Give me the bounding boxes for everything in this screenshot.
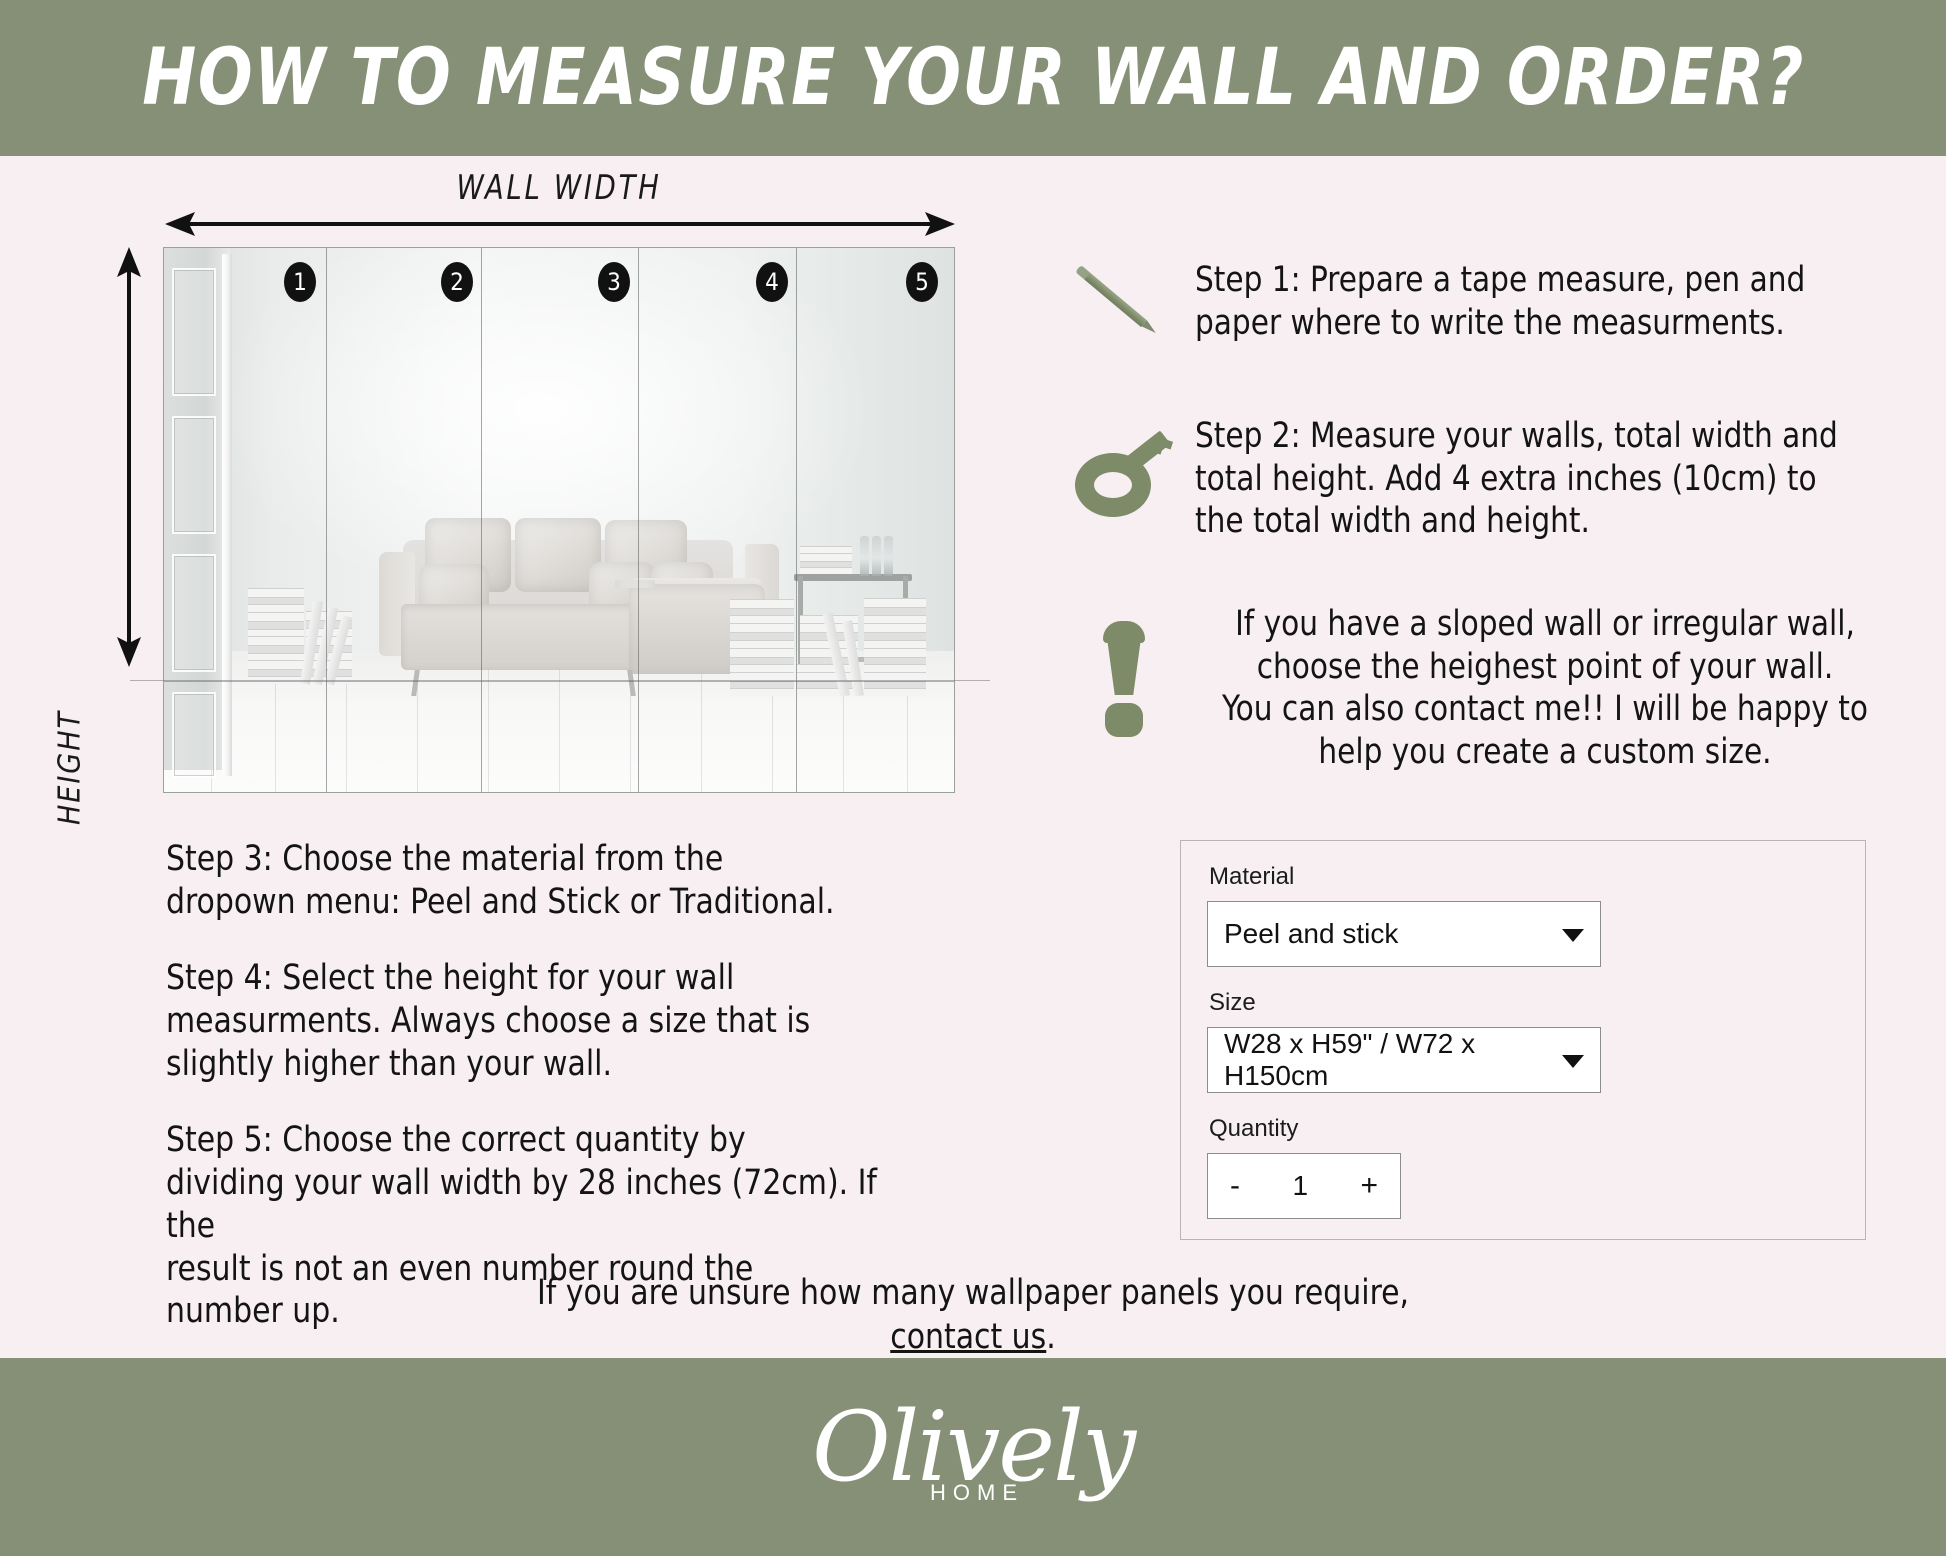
step-1-row: Step 1: Prepare a tape measure, pen and …	[1075, 255, 1925, 365]
step-2-text: Step 2: Measure your walls, total width …	[1195, 411, 1838, 543]
infographic-page: HOW TO MEASURE YOUR WALL AND ORDER? WALL…	[0, 0, 1946, 1556]
chevron-down-icon	[1562, 929, 1584, 942]
page-header: HOW TO MEASURE YOUR WALL AND ORDER?	[0, 0, 1946, 156]
panel-badge-5: 5	[906, 262, 938, 302]
wall-width-label: WALL WIDTH	[203, 168, 916, 208]
sofa-leg-1	[411, 670, 420, 696]
panel-divider-3	[638, 248, 639, 792]
panel-baseline-extension	[130, 680, 990, 681]
quantity-decrease-button[interactable]: -	[1230, 1169, 1240, 1203]
warning-row: If you have a sloped wall or irregular w…	[1075, 603, 1925, 774]
closing-line-1: If you are unsure how many wallpaper pan…	[537, 1273, 1409, 1313]
wall-height-arrow-icon	[116, 247, 142, 667]
sofa-seat	[401, 604, 635, 670]
page-footer: Olively HOME	[0, 1358, 1946, 1556]
size-label: Size	[1209, 989, 1839, 1017]
panel-divider-2	[481, 248, 482, 792]
quantity-increase-button[interactable]: +	[1360, 1169, 1378, 1203]
panel-badge-2: 2	[441, 262, 473, 302]
step-3-text: Step 3: Choose the material from the dro…	[166, 838, 917, 923]
contact-us-link[interactable]: contact us	[890, 1317, 1046, 1357]
panel-divider-1	[326, 248, 327, 792]
door-frame	[164, 248, 230, 770]
table-book-stack	[800, 544, 852, 574]
pencil-icon	[1075, 255, 1195, 365]
quantity-value[interactable]: 1	[1292, 1170, 1308, 1202]
closing-note: If you are unsure how many wallpaper pan…	[403, 1272, 1543, 1360]
material-select[interactable]: Peel and stick	[1207, 901, 1601, 967]
exclamation-icon	[1075, 603, 1195, 743]
quantity-label: Quantity	[1209, 1115, 1839, 1143]
size-select[interactable]: W28 x H59" / W72 x H150cm	[1207, 1027, 1601, 1093]
panel-badge-1: 1	[284, 262, 316, 302]
tape-measure-icon	[1075, 411, 1195, 521]
panel-badge-4: 4	[756, 262, 788, 302]
material-selected-value: Peel and stick	[1224, 918, 1398, 950]
page-title: HOW TO MEASURE YOUR WALL AND ORDER?	[142, 33, 1804, 123]
book-stack-left	[248, 580, 304, 684]
step-2-row: Step 2: Measure your walls, total width …	[1075, 411, 1925, 543]
size-selected-value: W28 x H59" / W72 x H150cm	[1224, 1028, 1584, 1092]
chevron-down-icon	[1562, 1055, 1584, 1068]
step-4-text: Step 4: Select the height for your wall …	[166, 957, 917, 1085]
room-preview-image: 1 2 3 4 5	[163, 247, 955, 793]
order-options-panel: Material Peel and stick Size W28 x H59" …	[1180, 840, 1866, 1240]
steps-right-column: Step 1: Prepare a tape measure, pen and …	[1075, 255, 1925, 774]
wall-width-arrow-icon	[165, 212, 955, 236]
panel-bottom-line	[164, 681, 954, 682]
panel-badge-3: 3	[598, 262, 630, 302]
step-1-text: Step 1: Prepare a tape measure, pen and …	[1195, 255, 1805, 344]
quantity-stepper[interactable]: - 1 +	[1207, 1153, 1401, 1219]
warning-text: If you have a sloped wall or irregular w…	[1216, 603, 1874, 774]
brand-logo-subtitle: HOME	[930, 1480, 1024, 1506]
material-label: Material	[1209, 863, 1839, 891]
panel-divider-4	[796, 248, 797, 792]
glassware	[860, 534, 902, 576]
door-jamb	[222, 254, 232, 776]
coffee-book	[615, 580, 655, 588]
wall-height-label: HEIGHT	[53, 668, 88, 868]
closing-period: .	[1046, 1317, 1056, 1357]
sofa	[379, 486, 779, 696]
